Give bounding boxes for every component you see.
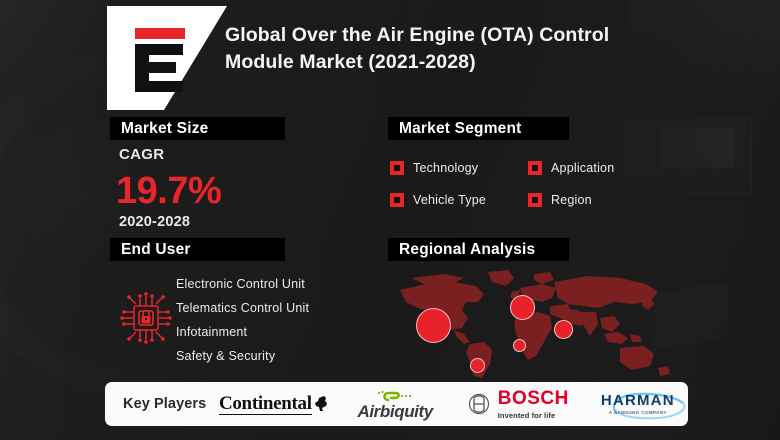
bosch-wordmark: BOSCH (498, 389, 569, 408)
logo-continental[interactable]: Continental (206, 382, 341, 426)
continental-horse-icon (313, 394, 329, 414)
section-header-market-size: Market Size (110, 117, 285, 140)
square-bullet-icon (390, 161, 404, 175)
airbiquity-wordmark: Airbiquity (357, 403, 432, 420)
square-bullet-icon (390, 193, 404, 207)
continental-wordmark: Continental (219, 393, 312, 416)
segment-label: Region (551, 193, 592, 207)
square-bullet-icon (528, 161, 542, 175)
market-segment-list: Technology Application Vehicle Type Regi… (390, 152, 670, 216)
world-map (392, 268, 682, 380)
logo-pennant-icon (107, 6, 227, 110)
segment-label: Technology (413, 161, 478, 175)
segment-item-vehicle-type[interactable]: Vehicle Type (390, 184, 528, 216)
map-marker-south-america[interactable] (470, 358, 485, 373)
bosch-armature-icon (468, 393, 490, 415)
bosch-tagline: Invented for life (498, 411, 556, 420)
end-user-item: Electronic Control Unit (176, 272, 309, 296)
section-header-end-user: End User (110, 238, 285, 261)
map-marker-asia-pacific[interactable] (554, 320, 573, 339)
key-players-label: Key Players (123, 396, 206, 412)
segment-item-technology[interactable]: Technology (390, 152, 528, 184)
page-title: Global Over the Air Engine (OTA) Control… (225, 22, 655, 76)
segment-item-region[interactable]: Region (528, 184, 666, 216)
key-players-bar: Key Players Continental Airbiquity (105, 382, 688, 426)
end-user-item: Telematics Control Unit (176, 296, 309, 320)
map-marker-middle-east-africa[interactable] (513, 339, 526, 352)
cagr-value: 19.7% (116, 172, 221, 210)
segment-label: Vehicle Type (413, 193, 486, 207)
segment-label: Application (551, 161, 614, 175)
square-bullet-icon (528, 193, 542, 207)
circuit-lock-glyph (118, 290, 174, 346)
map-marker-europe[interactable] (510, 295, 535, 320)
cagr-label: CAGR (119, 146, 164, 163)
logo-bosch[interactable]: BOSCH Invented for life (449, 382, 588, 426)
circuit-lock-icon (118, 290, 174, 346)
brand-logo (107, 6, 227, 110)
end-user-list: Electronic Control Unit Telematics Contr… (176, 272, 309, 368)
cagr-period: 2020-2028 (119, 214, 190, 230)
end-user-item: Safety & Security (176, 344, 309, 368)
end-user-item: Infotainment (176, 320, 309, 344)
harman-wordmark: HARMAN (601, 393, 675, 408)
infographic-canvas: Global Over the Air Engine (OTA) Control… (0, 0, 780, 440)
map-marker-north-america[interactable] (416, 308, 451, 343)
logo-harman[interactable]: HARMAN A SAMSUNG COMPANY (588, 382, 688, 426)
section-header-market-segment: Market Segment (388, 117, 569, 140)
section-header-regional-analysis: Regional Analysis (388, 238, 569, 261)
airbiquity-swoosh-icon (366, 389, 424, 403)
segment-item-application[interactable]: Application (528, 152, 666, 184)
harman-tagline: A SAMSUNG COMPANY (609, 410, 667, 415)
logo-airbiquity[interactable]: Airbiquity (341, 382, 449, 426)
